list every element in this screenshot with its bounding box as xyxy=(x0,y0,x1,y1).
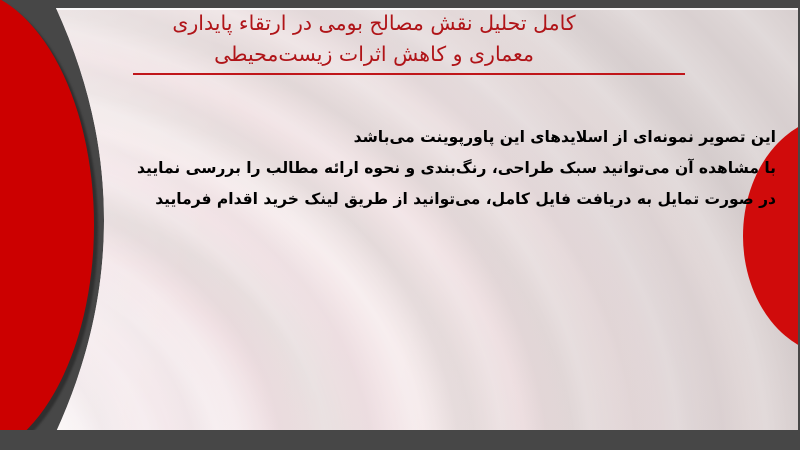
slide-title: کامل تحلیل نقش مصالح بومی در ارتقاء پاید… xyxy=(60,8,688,70)
body-line-2: با مشاهده آن می‌توانید سبک طراحی، رنگ‌بن… xyxy=(40,153,776,184)
body-line-3: در صورت تمایل به دریافت فایل کامل، می‌تو… xyxy=(40,184,776,215)
panel-sheen-overlay xyxy=(30,8,798,432)
slide-bottom-bar xyxy=(0,430,800,450)
slide-content-panel xyxy=(30,8,798,432)
title-underline-rule xyxy=(133,73,685,75)
presentation-slide: کامل تحلیل نقش مصالح بومی در ارتقاء پاید… xyxy=(0,0,800,450)
body-line-1: این تصویر نمونه‌ای از اسلایدهای این پاور… xyxy=(40,122,776,153)
slide-body-text: این تصویر نمونه‌ای از اسلایدهای این پاور… xyxy=(40,122,786,215)
